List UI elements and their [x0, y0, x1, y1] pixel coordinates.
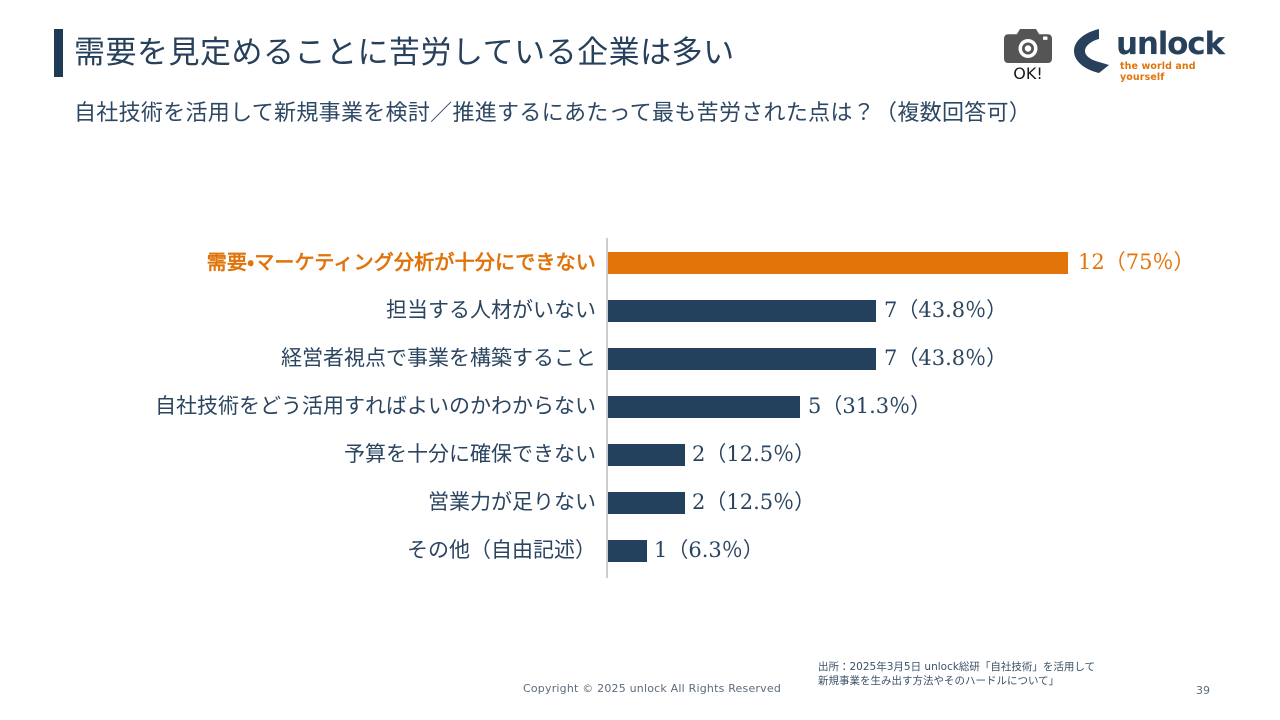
- bar-row: 営業力が足りない 2（12.5％）: [0, 484, 1280, 532]
- bar-row: 予算を十分に確保できない 2（12.5％）: [0, 436, 1280, 484]
- bar-category-label: 需要・マーケティング分析が十分にできない: [40, 249, 596, 275]
- bar-category-label: 予算を十分に確保できない: [40, 441, 596, 467]
- bar-0: [608, 252, 1068, 274]
- bar-6: [608, 540, 647, 562]
- unlock-hook-icon: [1068, 29, 1110, 78]
- bar-value-6: 1（6.3％）: [654, 536, 764, 564]
- brand-tagline: the world and yourself: [1120, 61, 1230, 83]
- bar-value-5: 2（12.5％）: [692, 488, 815, 516]
- bar-value-4: 2（12.5％）: [692, 440, 815, 468]
- bar-row: 需要・マーケティング分析が十分にできない 12（75％）: [0, 244, 1280, 292]
- bar-row: 自社技術をどう活用すればよいのかわからない 5（31.3％）: [0, 388, 1280, 436]
- brand-wordmark: unlock: [1116, 28, 1224, 61]
- camera-icon: [998, 26, 1058, 64]
- bar-2: [608, 348, 876, 370]
- brand-logo: unlock the world and yourself: [1068, 27, 1230, 75]
- bar-value-3: 5（31.3％）: [808, 392, 931, 420]
- bar-1: [608, 300, 876, 322]
- bar-value-2: 7（43.8％）: [884, 344, 1007, 372]
- camera-ok-badge: OK!: [998, 26, 1058, 84]
- bar-5: [608, 492, 685, 514]
- footer-copyright: Copyright © 2025 unlock All Rights Reser…: [523, 682, 781, 695]
- slide-header: 需要を見定めることに苦労している企業は多い 自社技術を活用して新規事業を検討／推…: [0, 0, 1280, 140]
- title-accent-bar: [54, 29, 63, 77]
- bar-value-0: 12（75％）: [1078, 248, 1194, 276]
- bar-3: [608, 396, 800, 418]
- bar-value-1: 7（43.8％）: [884, 296, 1007, 324]
- bar-4: [608, 444, 685, 466]
- bar-row: その他（自由記述） 1（6.3％）: [0, 532, 1280, 580]
- bar-row: 経営者視点で事業を構築すること 7（43.8％）: [0, 340, 1280, 388]
- page-title: 需要を見定めることに苦労している企業は多い: [74, 33, 735, 73]
- source-note: 出所：2025年3月5日 unlock総研「自社技術」を活用して 新規事業を生み…: [818, 660, 1168, 688]
- bar-category-label: 経営者視点で事業を構築すること: [40, 345, 596, 371]
- bar-category-label: その他（自由記述）: [40, 537, 596, 563]
- bar-row: 担当する人材がいない 7（43.8％）: [0, 292, 1280, 340]
- page-number: 39: [1196, 684, 1210, 697]
- page-subtitle: 自社技術を活用して新規事業を検討／推進するにあたって最も苦労された点は？（複数回…: [74, 99, 1031, 129]
- horizontal-bar-chart: 需要・マーケティング分析が十分にできない 12（75％） 担当する人材がいない …: [0, 232, 1280, 582]
- source-note-line2: 新規事業を生み出す方法やそのハードルについて」: [818, 674, 1168, 688]
- ok-label: OK!: [998, 65, 1058, 83]
- bar-category-label: 担当する人材がいない: [40, 297, 596, 323]
- bar-category-label: 営業力が足りない: [40, 489, 596, 515]
- bar-category-label: 自社技術をどう活用すればよいのかわからない: [40, 393, 596, 419]
- source-note-line1: 出所：2025年3月5日 unlock総研「自社技術」を活用して: [818, 660, 1168, 674]
